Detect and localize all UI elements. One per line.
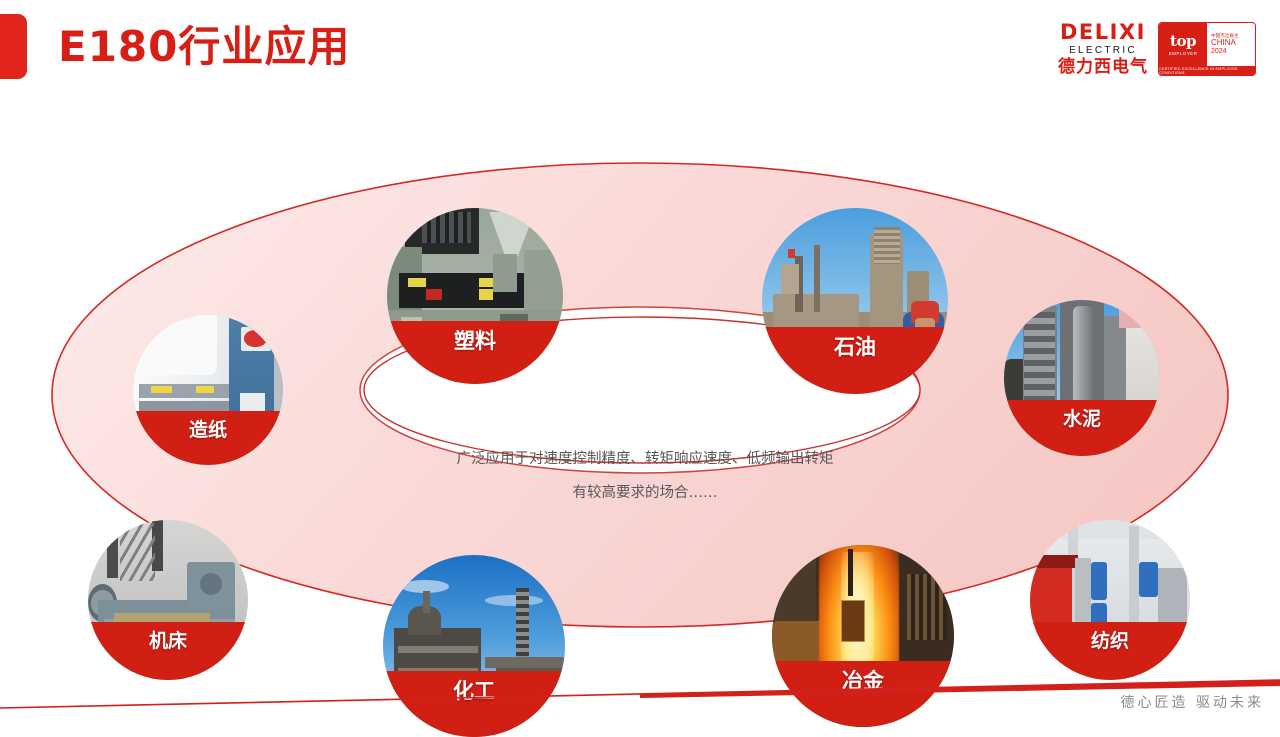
center-description-line1: 广泛应用于对速度控制精度、转矩响应速度、低频输出转矩 bbox=[400, 442, 890, 476]
badge-body: top EMPLOYER 中国杰出雇主 CHINA 2024 bbox=[1159, 23, 1255, 66]
footer-slogan: 德心匠造 驱动未来 bbox=[1121, 692, 1264, 712]
industry-node-oil-label: 石油 bbox=[762, 327, 948, 394]
footer-divider bbox=[0, 660, 1280, 720]
industry-node-cement-label: 水泥 bbox=[1004, 400, 1160, 456]
badge-certified-strip: CERTIFIED EXCELLENCE IN EMPLOYEE CONDITI… bbox=[1159, 66, 1255, 75]
badge-country: CHINA bbox=[1211, 38, 1255, 48]
brand-logo-block: DELIXI ELECTRIC 德力西电气 top EMPLOYER 中国杰出雇… bbox=[1058, 18, 1256, 80]
industry-node-paper-label: 造纸 bbox=[133, 411, 283, 465]
industry-node-plastic[interactable]: 塑料 bbox=[387, 208, 563, 384]
delixi-logo: DELIXI ELECTRIC 德力西电气 bbox=[1058, 22, 1148, 76]
delixi-subtitle: ELECTRIC bbox=[1069, 46, 1137, 56]
industry-node-textile[interactable]: 纺织 bbox=[1030, 520, 1190, 680]
top-employer-badge: top EMPLOYER 中国杰出雇主 CHINA 2024 CERTIFIED… bbox=[1158, 22, 1256, 76]
delixi-chinese-name: 德力西电气 bbox=[1058, 59, 1148, 76]
header-bar: E180行业应用 DELIXI ELECTRIC 德力西电气 top EMPLO… bbox=[0, 0, 1280, 100]
center-description: 广泛应用于对速度控制精度、转矩响应速度、低频输出转矩 有较高要求的场合…… bbox=[400, 442, 890, 510]
industry-node-plastic-label: 塑料 bbox=[387, 321, 563, 384]
badge-right: 中国杰出雇主 CHINA 2024 bbox=[1207, 23, 1255, 66]
title-accent-tab bbox=[0, 14, 27, 79]
industry-application-diagram: 广泛应用于对速度控制精度、转矩响应速度、低频输出转矩 有较高要求的场合…… 造纸 bbox=[0, 90, 1280, 665]
badge-top-word: top bbox=[1170, 34, 1196, 49]
industry-node-machine-tool[interactable]: 机床 bbox=[88, 520, 248, 680]
badge-employer-word: EMPLOYER bbox=[1169, 51, 1198, 56]
delixi-wordmark: DELIXI bbox=[1060, 22, 1146, 43]
badge-year: 2024 bbox=[1211, 48, 1255, 56]
industry-node-paper[interactable]: 造纸 bbox=[133, 315, 283, 465]
page-title: E180行业应用 bbox=[58, 16, 350, 78]
industry-node-oil[interactable]: 石油 bbox=[762, 208, 948, 394]
center-description-line2: 有较高要求的场合…… bbox=[400, 476, 890, 510]
industry-node-cement[interactable]: 水泥 bbox=[1004, 300, 1160, 456]
badge-left: top EMPLOYER bbox=[1159, 23, 1207, 66]
